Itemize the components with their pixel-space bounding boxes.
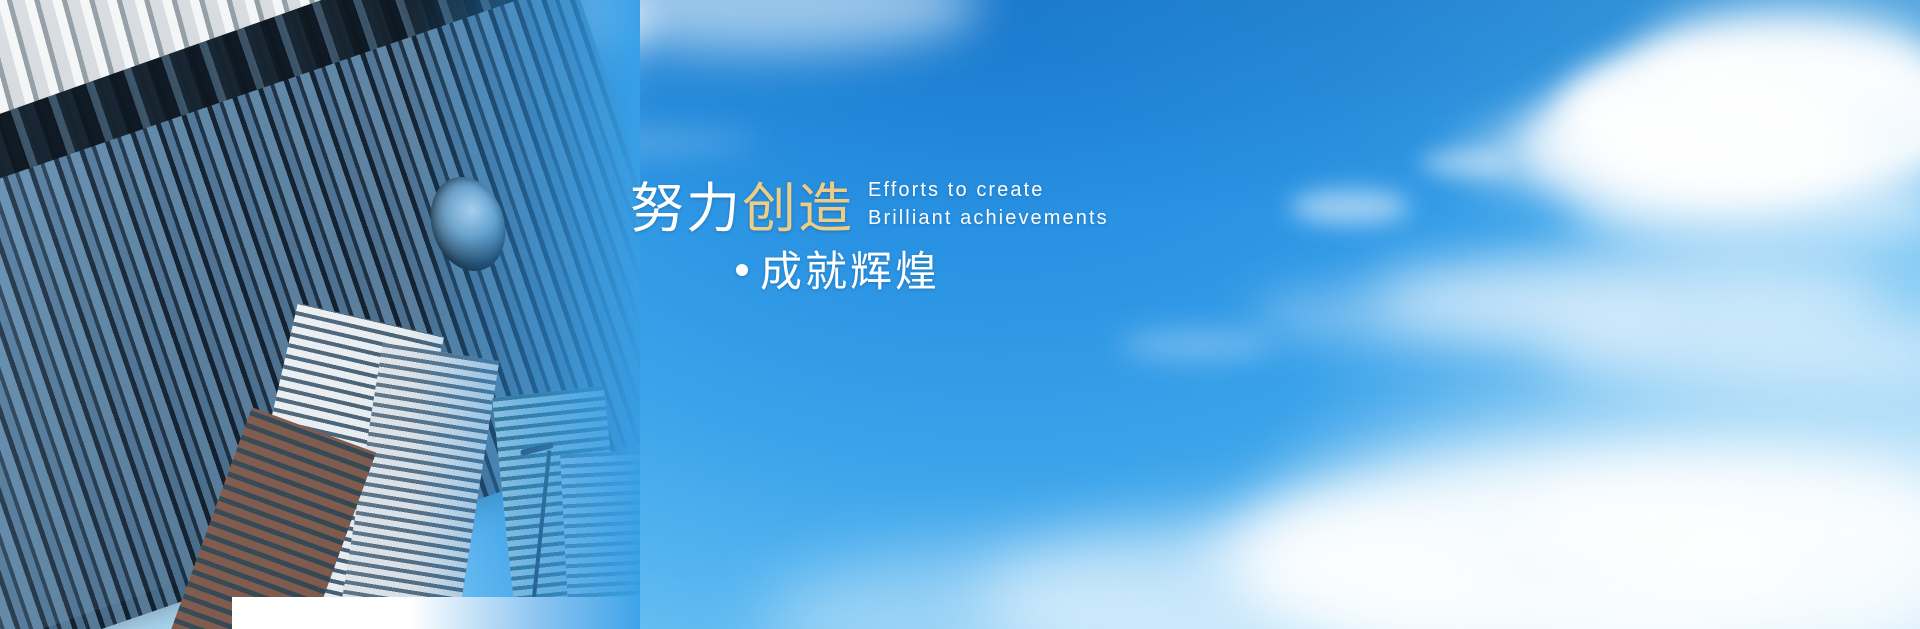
headline-english-line-1: Efforts to create — [868, 176, 1109, 204]
cloud-puff — [1420, 150, 1510, 176]
headline-chinese-gold: 创造 — [742, 179, 854, 239]
headline-english-stack: Efforts to create Brilliant achievements — [868, 176, 1109, 237]
headline-chinese-primary: 努力创造 — [630, 181, 854, 237]
bullet-icon — [736, 264, 748, 276]
cloud-shape — [1640, 4, 1920, 124]
headline-row-primary: 努力创造 Efforts to create Brilliant achieve… — [630, 176, 1190, 237]
cloud-shape — [1180, 519, 1480, 589]
headline-row-secondary: 成就辉煌 — [630, 249, 1190, 295]
skyline-photo — [0, 0, 640, 629]
hero-banner: 努力创造 Efforts to create Brilliant achieve… — [0, 0, 1920, 629]
cloud-puff — [1120, 330, 1270, 360]
cloud-puff — [1290, 190, 1410, 224]
banner-copy: 努力创造 Efforts to create Brilliant achieve… — [630, 176, 1190, 295]
headline-english-line-2: Brilliant achievements — [868, 204, 1109, 232]
headline-chinese-secondary: 成就辉煌 — [760, 249, 940, 295]
headline-chinese-white: 努力 — [630, 179, 742, 239]
photo-bottom-edge — [232, 597, 640, 629]
